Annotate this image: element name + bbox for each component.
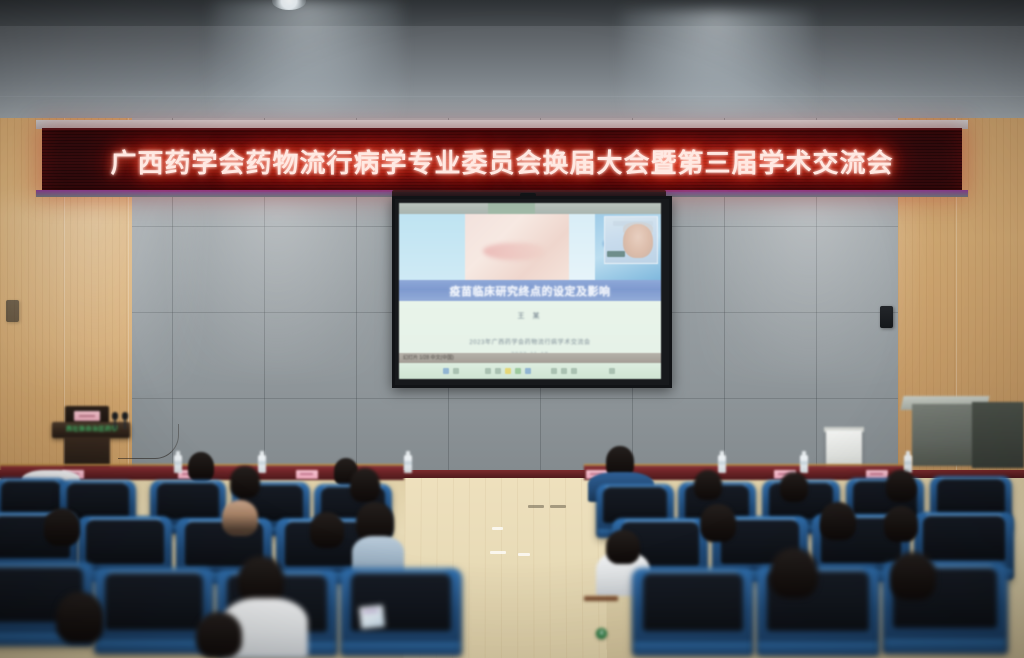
auditorium-seat [632,568,754,656]
podium-microphone-1 [112,412,118,428]
water-bottle [404,455,412,473]
attendee-head [890,552,936,600]
zoom-in-icon[interactable] [571,368,577,374]
slide-photo-gap [569,214,595,280]
pointer-icon[interactable] [495,368,501,374]
attendee-head [222,500,258,536]
slide-photo-vaccination [465,214,570,280]
attendee-head [196,612,242,658]
podium-logo-text: 广西壮族自治区药学院 [66,424,118,432]
slide-title-band: 疫苗临床研究终点的设定及影响 [399,280,661,301]
attendee-head [820,502,856,540]
seat-number-text: 4 [200,588,204,595]
podium-microphone-2 [122,412,128,428]
ceiling [0,0,1024,132]
ceiling-seam [0,96,1024,97]
slideshow-icon[interactable] [515,368,521,374]
slide-body: 王 某 2023年广西药学会药物流行病学术交流会 2023-11-18 [399,301,661,357]
highlight-icon[interactable] [505,368,511,374]
attendee-head [606,530,640,564]
attendee-head [310,512,344,548]
slide-top-strip [399,203,661,214]
attendee-head [694,470,722,500]
video-call-thumbnail [604,216,658,264]
microphone-stem [124,419,126,429]
slide-photo-left [399,214,465,280]
attendee-head [238,556,284,604]
auditorium-seat [340,568,462,656]
wall-speaker-left [6,300,19,322]
led-banner-text: 广西药学会药物流行病学专业委员会换届大会暨第三届学术交流会 [110,143,893,180]
floor-mark [550,505,566,508]
attendee-head [188,452,214,482]
seat-number-text: 4 [600,630,604,637]
wall-speaker-right [880,306,893,328]
name-placard [296,470,318,479]
zoom-slider-icon[interactable] [561,368,567,374]
normal-view-icon[interactable] [443,368,449,374]
slide-status-text: 幻灯片 1/28 中文(中国) [403,354,454,361]
water-bottle [800,455,808,473]
slide-organization: 2023年广西药学会药物流行病学术交流会 [399,337,661,346]
attendee-head [44,508,80,546]
reading-view-icon[interactable] [485,368,491,374]
water-bottle [258,455,266,473]
conference-hall-photo: 广西药学会药物流行病学专业委员会换届大会暨第三届学术交流会 [0,0,1024,658]
water-bottle [718,455,726,473]
slide-status-bar: 幻灯片 1/28 中文(中国) [399,353,661,363]
floor-mark [528,505,544,508]
attendee-head [700,504,736,542]
projection-screen: 疫苗临床研究终点的设定及影响 王 某 2023年广西药学会药物流行病学术交流会 … [392,196,672,388]
slide-top-strip-accent [488,203,535,214]
zoom-out-icon[interactable] [551,368,557,374]
presentation-slide: 疫苗临床研究终点的设定及影响 王 某 2023年广西药学会药物流行病学术交流会 … [399,203,661,379]
ceiling-dark-band [0,0,1024,26]
attendee-head [780,472,808,502]
floor-scrap [518,553,530,556]
participant-face [623,224,653,258]
slide-toolbar [399,363,661,379]
conference-booklet [359,605,385,629]
floor-scrap [492,527,503,530]
slide-presenter: 王 某 [399,311,661,321]
podium-name-card [74,411,100,421]
seat-tray [584,596,618,601]
notes-icon[interactable] [525,368,531,374]
av-equipment-cabinet [912,404,978,466]
sorter-view-icon[interactable] [453,368,459,374]
led-banner: 广西药学会药物流行病学专业委员会换届大会暨第三届学术交流会 [42,128,962,194]
attendee-head [56,592,104,644]
seat-number-badge: 4 [596,628,607,639]
participant-name-label [607,251,625,257]
attendee-head [350,468,380,502]
microphone-stem [114,419,116,429]
slide-title: 疫苗临床研究终点的设定及影响 [450,283,611,299]
attendee-head [230,466,260,498]
floor-scrap [490,551,506,554]
attendee-head [884,506,918,542]
attendee-head [886,470,916,502]
attendee-head [770,548,818,598]
equipment-dark-unit [972,402,1024,468]
water-bottle [174,455,182,473]
fit-window-icon[interactable] [609,368,615,374]
